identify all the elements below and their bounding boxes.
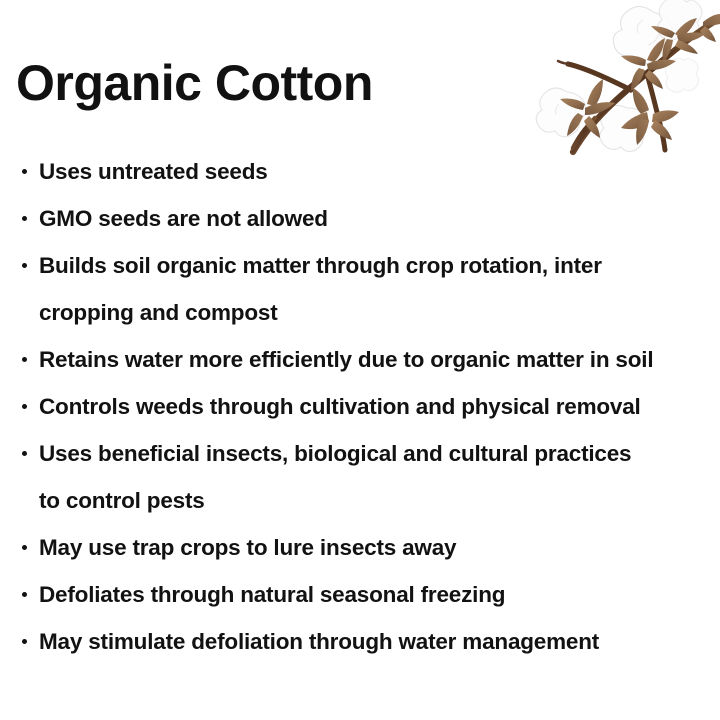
cotton-boll-2 [536,88,586,137]
list-item: GMO seeds are not allowed [18,195,720,242]
leaf [560,99,585,110]
bullet-list: Uses untreated seeds GMO seeds are not a… [18,148,720,665]
leaf [703,14,720,26]
leaf-cluster-lower-right [621,88,679,145]
leaf [621,56,646,67]
leaf [636,119,649,145]
list-item: May use trap crops to lure insects away [18,524,720,571]
list-item-text: Builds soil organic matter through crop … [39,253,602,278]
list-item-text-line2: to control pests [39,477,720,524]
leaf [584,116,600,138]
bullet-dot-icon [22,451,27,456]
leaf [663,39,674,62]
leaf [621,112,649,129]
main-stem [573,18,720,152]
list-item-text: Retains water more efficiently due to or… [39,347,653,372]
cotton-boll-4 [657,0,702,41]
cotton-boll-5 [665,59,698,93]
leaf [631,68,645,91]
list-item-text: Uses beneficial insects, biological and … [39,441,631,466]
slide-canvas: Organic Cotton Uses untreated seeds GMO … [0,0,720,720]
list-item: Uses beneficial insects, biological and … [18,430,720,524]
list-item-text: Defoliates through natural seasonal free… [39,582,505,607]
list-item-text: Controls weeds through cultivation and p… [39,394,641,419]
cotton-branch-illustration [535,0,720,165]
leaf [645,70,663,89]
bullet-dot-icon [22,216,27,221]
leaf [585,102,615,115]
leaf [567,113,583,136]
leaf-cluster-left [560,79,615,138]
leaf [647,60,676,71]
bullet-dot-icon [22,263,27,268]
list-item: Defoliates through natural seasonal free… [18,571,720,618]
list-item-text: May use trap crops to lure insects away [39,535,456,560]
leaf-cluster-group [560,14,720,145]
bullet-dot-icon [22,639,27,644]
leaf [647,38,665,62]
leaf-cluster-edge [700,14,720,42]
main-stem-shadow [573,50,675,152]
list-item-text-line2: cropping and compost [39,289,720,336]
leaf [675,40,698,54]
branch-stem-group [558,18,720,152]
list-item-text: GMO seeds are not allowed [39,206,328,231]
page-title: Organic Cotton [16,56,373,111]
list-item: May stimulate defoliation through water … [18,618,720,665]
leaf [587,79,603,106]
bullet-dot-icon [22,404,27,409]
leaf [633,88,649,114]
list-item: Uses untreated seeds [18,148,720,195]
bullet-dot-icon [22,592,27,597]
branch-left [568,64,631,90]
leaf [700,26,716,42]
branch-twig [573,118,595,148]
leaf [651,26,675,38]
cotton-boll-3 [600,105,648,151]
branch-down [647,74,665,150]
cotton-boll-group [536,0,702,152]
list-item-text: May stimulate defoliation through water … [39,629,599,654]
leaf-cluster-top [651,18,705,62]
leaf [677,32,705,42]
list-item: Builds soil organic matter through crop … [18,242,720,336]
leaf [675,18,697,38]
cotton-boll-1 [613,6,672,64]
leaf [651,120,672,140]
leaf-cluster-mid [621,38,676,91]
list-item-text: Uses untreated seeds [39,159,268,184]
list-item: Controls weeds through cultivation and p… [18,383,720,430]
bullet-dot-icon [22,169,27,174]
leaf [652,110,679,122]
list-item: Retains water more efficiently due to or… [18,336,720,383]
bullet-dot-icon [22,357,27,362]
bullet-dot-icon [22,545,27,550]
